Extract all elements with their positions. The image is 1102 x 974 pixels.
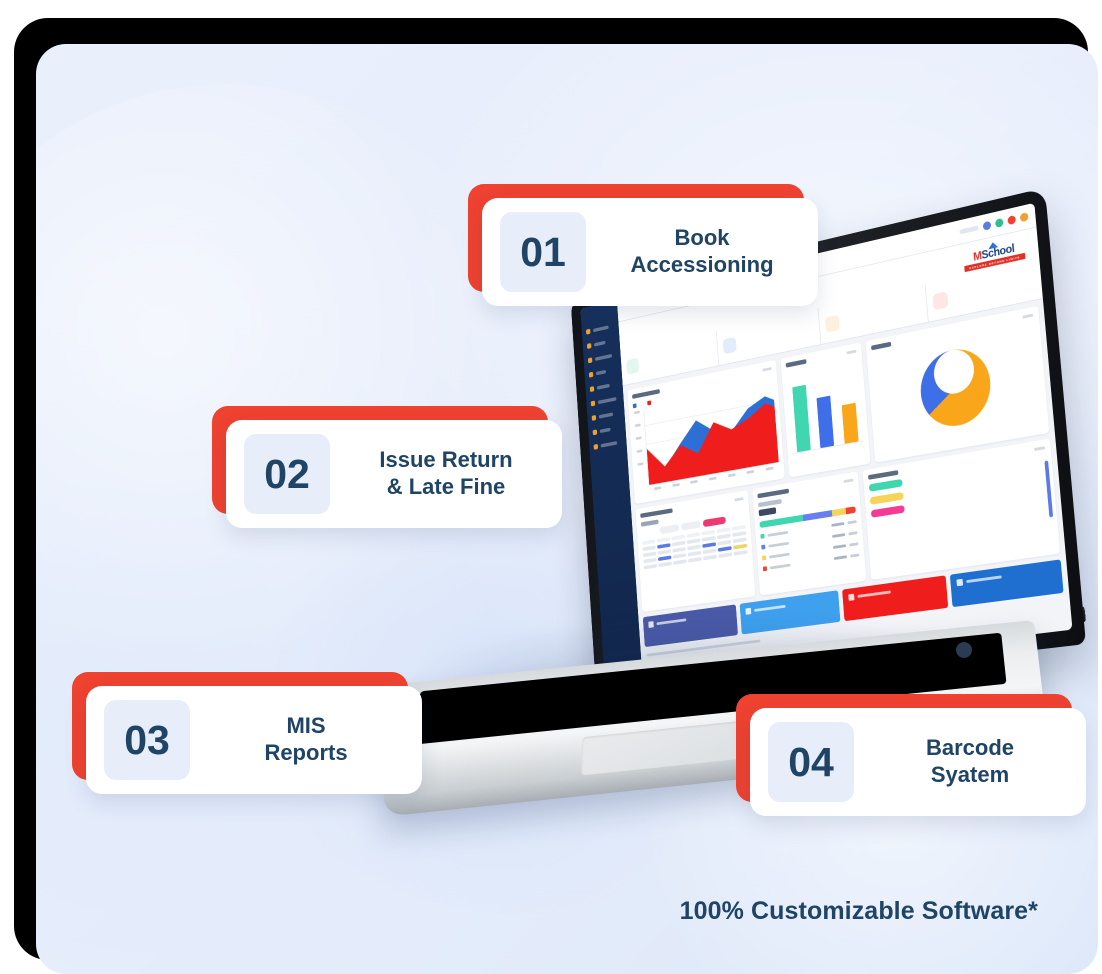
sidebar-item[interactable]	[590, 381, 619, 392]
outer-frame: MSchool EXPLORE BEYOND LIMITS	[14, 18, 1088, 960]
sidebar-item[interactable]	[589, 367, 618, 378]
progress-total	[759, 507, 777, 516]
calendar-view-week[interactable]	[681, 520, 701, 530]
donut-chart-panel	[866, 306, 1050, 463]
stack-segment	[759, 515, 803, 528]
area-chart-panel	[627, 360, 784, 504]
panel-menu-icon[interactable]	[843, 479, 853, 483]
sidebar-item-icon	[591, 401, 596, 407]
calendar-subtitle	[641, 519, 659, 526]
card-label-line2: Syatem	[864, 762, 1076, 789]
notifications-icon[interactable]	[995, 218, 1004, 228]
sidebar-item[interactable]	[588, 352, 617, 363]
sidebar-item-icon	[586, 329, 591, 335]
progress-subtitle	[758, 499, 782, 507]
panel-title	[640, 508, 673, 518]
calendar-view-day[interactable]	[660, 524, 680, 534]
stack-segment	[846, 506, 856, 514]
feature-card-02[interactable]: 02 Issue Return & Late Fine	[212, 406, 548, 514]
card-number-badge: 03	[104, 700, 190, 780]
sidebar-item-icon	[589, 372, 594, 378]
sidebar-item-label	[601, 441, 618, 448]
card-label: Barcode Syatem	[854, 735, 1086, 789]
sidebar-item-icon	[590, 386, 595, 392]
sidebar-item[interactable]	[594, 439, 623, 450]
sidebar-item-label	[593, 325, 609, 332]
sidebar-item-icon	[594, 444, 599, 450]
settings-icon[interactable]	[1020, 212, 1029, 222]
sidebar-item[interactable]	[587, 338, 616, 349]
panel-menu-icon[interactable]	[1022, 314, 1033, 319]
bar	[792, 385, 811, 453]
notice-tag	[871, 505, 905, 518]
card-label-line2: & Late Fine	[340, 474, 552, 501]
card-label-line2: Accessioning	[596, 252, 808, 279]
stat-icon	[824, 314, 839, 332]
messages-icon[interactable]	[1007, 215, 1016, 225]
feature-card-01[interactable]: 01 Book Accessioning	[468, 184, 804, 292]
sidebar-item[interactable]	[592, 410, 621, 421]
feature-card-04[interactable]: 04 Barcode Syatem	[736, 694, 1072, 802]
sidebar-item-label	[596, 370, 606, 375]
stack-segment	[832, 508, 846, 517]
sidebar-item-icon	[592, 415, 597, 421]
card-label-line2: Reports	[200, 740, 412, 767]
card-number-badge: 04	[768, 722, 854, 802]
canvas: MSchool EXPLORE BEYOND LIMITS	[36, 44, 1098, 974]
topbar-search[interactable]	[959, 225, 978, 234]
tile-icon	[848, 594, 854, 601]
card-label: Issue Return & Late Fine	[330, 447, 562, 501]
panel-title	[786, 359, 807, 368]
panel-menu-icon[interactable]	[1034, 446, 1045, 451]
mouse-cursor-icon	[956, 642, 972, 658]
sidebar-item[interactable]	[591, 396, 620, 407]
card-body: 03 MIS Reports	[86, 686, 422, 794]
panel-title	[757, 489, 789, 499]
card-body: 04 Barcode Syatem	[750, 708, 1086, 816]
stat-icon	[626, 357, 639, 374]
sidebar-item-icon	[593, 429, 598, 435]
sidebar-item-label	[597, 384, 610, 390]
sidebar-item-icon	[588, 357, 593, 363]
sidebar-item-label	[598, 397, 617, 404]
notice-tag	[870, 492, 904, 505]
panel-title	[871, 342, 891, 351]
progress-panel	[752, 471, 866, 595]
tile-label	[754, 605, 786, 612]
donut-chart	[918, 343, 994, 431]
stack-segment	[803, 510, 832, 521]
panel-menu-icon[interactable]	[734, 497, 743, 501]
calendar-view-month[interactable]	[703, 516, 726, 527]
legend-swatch	[647, 400, 651, 405]
tile-icon	[957, 579, 964, 587]
panel-menu-icon[interactable]	[847, 350, 857, 355]
sidebar-item[interactable]	[586, 323, 615, 334]
sidebar-item[interactable]	[593, 425, 622, 436]
footnote-text: 100% Customizable Software*	[680, 897, 1038, 926]
sidebar-item-label	[595, 354, 612, 361]
card-label: Book Accessioning	[586, 225, 818, 279]
donut-hole	[932, 346, 975, 397]
bar	[817, 395, 835, 448]
bar	[842, 403, 859, 444]
legend-swatch	[633, 403, 637, 408]
feature-card-03[interactable]: 03 MIS Reports	[72, 672, 408, 780]
card-body: 01 Book Accessioning	[482, 198, 818, 306]
stat-icon	[933, 291, 949, 310]
bar-chart-plot	[787, 362, 864, 454]
panel-title	[868, 470, 898, 480]
card-label-line1: Book	[596, 225, 808, 252]
sidebar-item-label	[600, 428, 611, 433]
stat-icon	[722, 336, 736, 354]
card-number-badge: 02	[244, 434, 330, 514]
sidebar-item-icon	[587, 343, 592, 349]
calendar-panel[interactable]	[635, 490, 755, 612]
card-label-line1: Issue Return	[340, 447, 552, 474]
tile-label	[966, 575, 1002, 583]
legend-item	[633, 402, 639, 408]
bar-chart-panel	[781, 342, 871, 477]
user-avatar[interactable]	[983, 221, 992, 231]
card-label: MIS Reports	[190, 713, 422, 767]
sidebar-item-label	[594, 341, 606, 347]
legend-item	[647, 399, 653, 405]
notice-tag	[869, 479, 903, 492]
card-body: 02 Issue Return & Late Fine	[226, 420, 562, 528]
card-number-badge: 01	[500, 212, 586, 292]
panel-menu-icon[interactable]	[762, 367, 772, 372]
card-label-line1: MIS	[200, 713, 412, 740]
card-label-line1: Barcode	[864, 735, 1076, 762]
tile-value	[967, 589, 968, 605]
tile-label	[857, 591, 891, 598]
sidebar-item-label	[599, 412, 613, 418]
